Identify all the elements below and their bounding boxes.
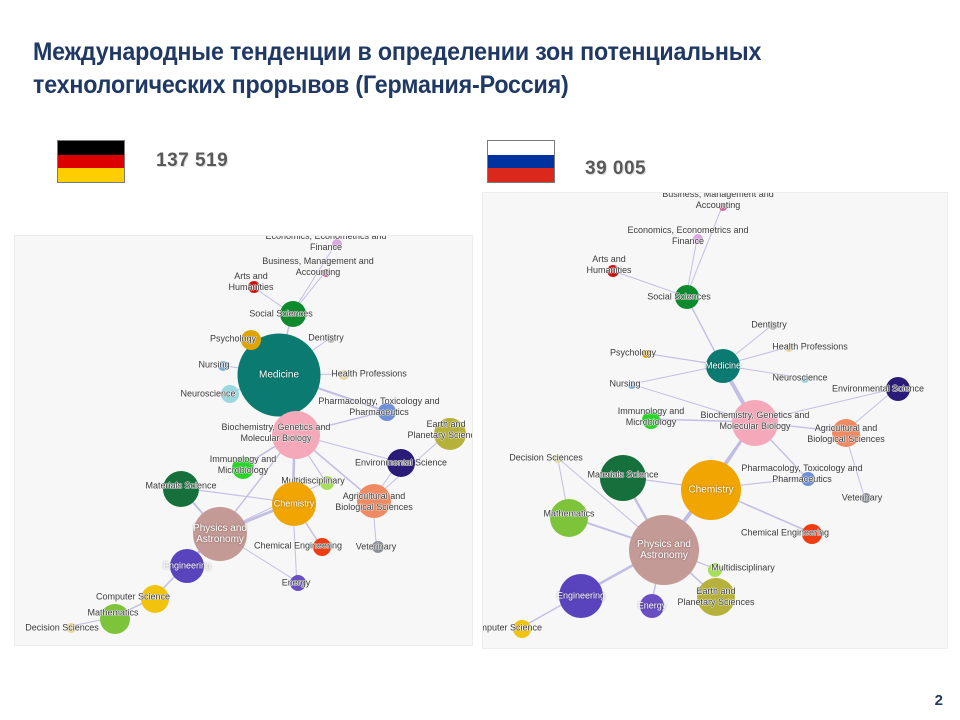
network-node-mul[interactable] xyxy=(320,476,334,490)
network-node-com[interactable] xyxy=(141,585,169,613)
network-node-art[interactable] xyxy=(248,281,260,293)
russia-flag xyxy=(487,140,555,183)
network-node-psy[interactable] xyxy=(642,350,650,358)
page-title: Международные тенденции в определении зо… xyxy=(33,36,851,102)
network-node-mth[interactable] xyxy=(100,604,130,634)
network-node-agr[interactable] xyxy=(357,484,391,518)
network-node-phy[interactable] xyxy=(193,507,247,561)
network-edges xyxy=(15,236,472,645)
network-node-hea[interactable] xyxy=(785,344,793,352)
network-node-pha[interactable] xyxy=(801,472,815,486)
network-node-bgmb[interactable] xyxy=(272,411,320,459)
network-node-bus[interactable] xyxy=(322,269,330,277)
flag-band-2 xyxy=(488,168,554,182)
network-node-phy[interactable] xyxy=(629,515,699,585)
network-node-med[interactable] xyxy=(706,349,740,383)
network-node-dec[interactable] xyxy=(554,455,562,463)
network-node-psy[interactable] xyxy=(241,330,261,350)
flag-band-0 xyxy=(488,141,554,155)
russia-publication-count: 39 005 xyxy=(585,158,646,180)
network-node-eng[interactable] xyxy=(559,574,603,618)
network-node-agr[interactable] xyxy=(832,419,860,447)
flag-band-1 xyxy=(488,155,554,169)
network-node-art[interactable] xyxy=(607,265,619,277)
network-node-soc[interactable] xyxy=(675,285,699,309)
network-node-eco[interactable] xyxy=(693,234,703,244)
network-node-che[interactable] xyxy=(272,482,316,526)
russia-subject-network: MedicineBiochemistry, Genetics and Molec… xyxy=(483,193,947,648)
network-node-imm[interactable] xyxy=(232,457,254,479)
network-node-bgmb[interactable] xyxy=(732,400,778,446)
slide-root: Международные тенденции в определении зо… xyxy=(0,0,960,720)
network-node-vet[interactable] xyxy=(372,541,384,553)
network-node-neu[interactable] xyxy=(801,375,809,383)
network-node-che[interactable] xyxy=(681,460,741,520)
network-node-eco[interactable] xyxy=(332,239,342,249)
germany-publication-count: 137 519 xyxy=(156,150,228,172)
germany-flag xyxy=(57,140,125,183)
network-node-mth[interactable] xyxy=(550,499,588,537)
network-node-mat[interactable] xyxy=(600,455,646,501)
germany-subject-network: MedicineBiochemistry, Genetics and Molec… xyxy=(15,236,472,645)
network-node-cen[interactable] xyxy=(313,538,331,556)
flag-band-2 xyxy=(58,168,124,182)
network-node-pha[interactable] xyxy=(378,403,396,421)
network-node-hea[interactable] xyxy=(339,370,349,380)
network-node-imm[interactable] xyxy=(642,411,660,429)
network-node-den[interactable] xyxy=(769,322,777,330)
network-node-env[interactable] xyxy=(387,449,415,477)
flag-band-1 xyxy=(58,155,124,169)
network-node-bus[interactable] xyxy=(719,203,727,211)
network-node-ene[interactable] xyxy=(640,594,664,618)
network-node-nur[interactable] xyxy=(218,361,228,371)
network-node-mul[interactable] xyxy=(708,563,722,577)
russia-network-panel: MedicineBiochemistry, Genetics and Molec… xyxy=(482,192,948,649)
network-node-soc[interactable] xyxy=(280,301,306,327)
flag-band-0 xyxy=(58,141,124,155)
network-node-ene[interactable] xyxy=(290,575,306,591)
network-node-mat[interactable] xyxy=(163,471,199,507)
network-node-eng[interactable] xyxy=(170,549,204,583)
network-node-neu[interactable] xyxy=(221,385,239,403)
network-node-nur[interactable] xyxy=(628,381,636,389)
network-node-vet[interactable] xyxy=(861,493,871,503)
network-node-ear[interactable] xyxy=(697,578,735,616)
network-node-env[interactable] xyxy=(886,377,910,401)
network-node-com[interactable] xyxy=(513,620,531,638)
network-edge xyxy=(686,207,722,297)
germany-network-panel: MedicineBiochemistry, Genetics and Molec… xyxy=(14,235,473,646)
network-node-den[interactable] xyxy=(327,335,335,343)
network-node-ear[interactable] xyxy=(434,418,466,450)
network-node-cen[interactable] xyxy=(802,524,822,544)
network-node-dec[interactable] xyxy=(66,623,76,633)
page-number: 2 xyxy=(935,692,943,709)
